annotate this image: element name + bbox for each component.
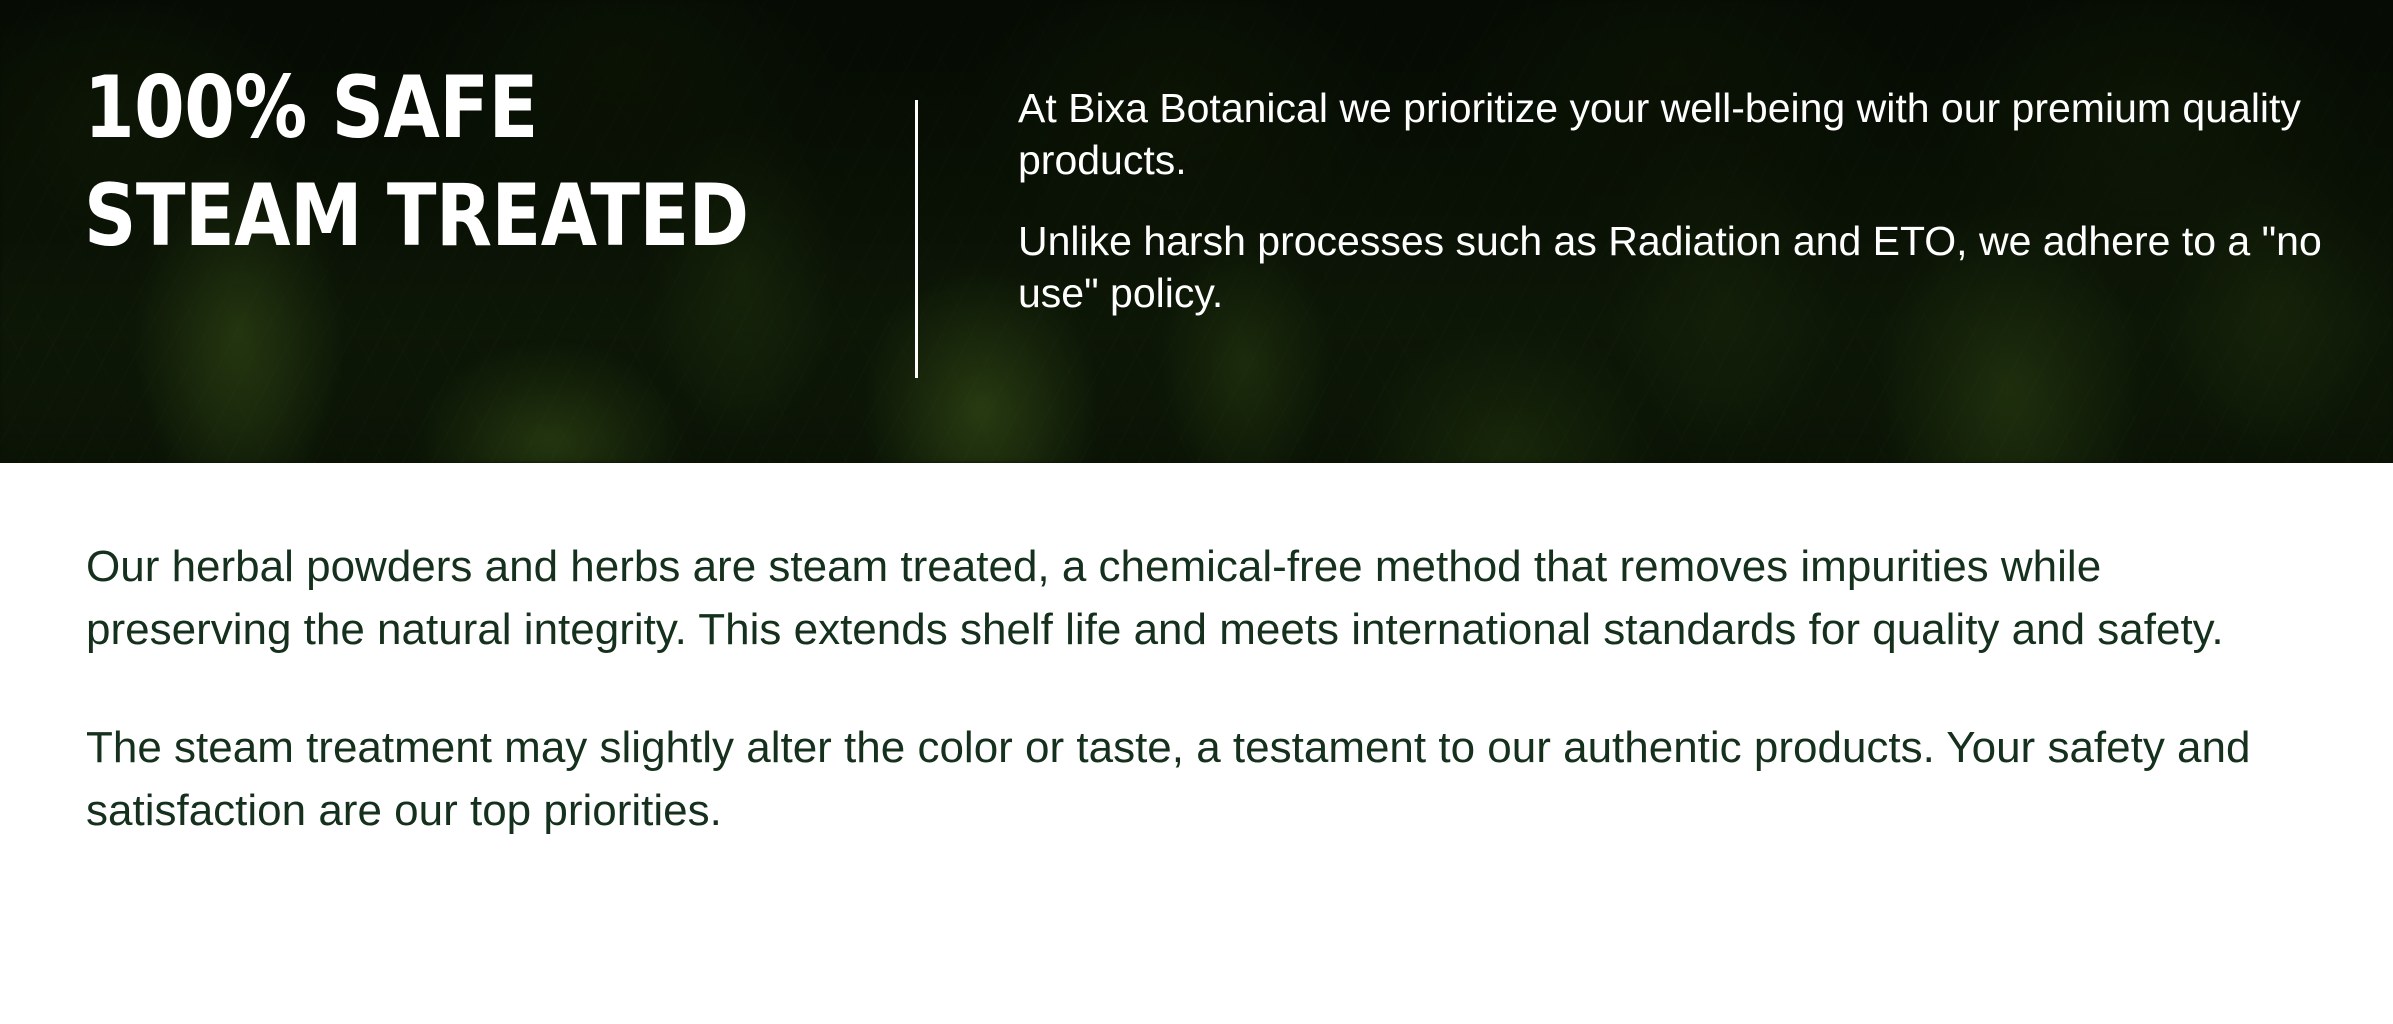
description-paragraph-1: Our herbal powders and herbs are steam t… [86,535,2309,661]
description-section: Our herbal powders and herbs are steam t… [0,463,2393,1024]
vertical-divider [915,100,918,378]
headline-line-2: STEAM TREATED [84,162,827,270]
description-paragraph-2: The steam treatment may slightly alter t… [86,716,2309,842]
banner-headline: 100% SAFE STEAM TREATED [84,54,827,270]
banner-paragraph-1: At Bixa Botanical we prioritize your wel… [1018,82,2338,186]
headline-line-1: 100% SAFE [84,54,827,162]
promo-banner: 100% SAFE STEAM TREATED At Bixa Botanica… [0,0,2393,463]
banner-paragraph-2: Unlike harsh processes such as Radiation… [1018,215,2338,319]
banner-description: At Bixa Botanical we prioritize your wel… [1018,82,2338,319]
banner-content: 100% SAFE STEAM TREATED At Bixa Botanica… [0,0,2393,463]
description-copy: Our herbal powders and herbs are steam t… [86,535,2309,842]
